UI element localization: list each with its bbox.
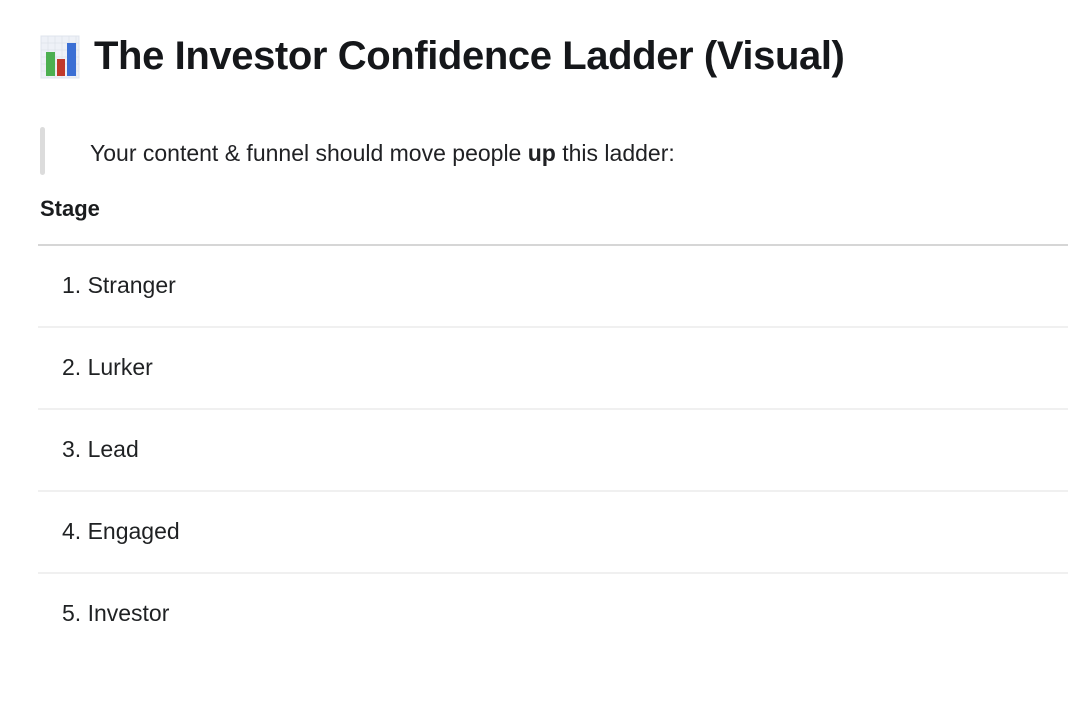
- cell-stage: 5. Investor: [38, 573, 605, 654]
- table-body: 1. Stranger "Who are you?" 2. Lurker "I …: [38, 245, 1068, 654]
- callout-emphasis: up: [528, 140, 556, 166]
- column-header-thinking: What They're Thinking: [605, 196, 1068, 245]
- table-row: 5. Investor "I trust you with my money": [38, 573, 1068, 654]
- cell-thinking: "I trust you with my money": [605, 573, 1068, 654]
- confidence-ladder-table: Stage What They're Thinking 1. Stranger …: [38, 196, 1068, 654]
- cell-thinking: "Who are you?": [605, 245, 1068, 327]
- page-header: The Investor Confidence Ladder (Visual): [0, 0, 1072, 112]
- page-title: The Investor Confidence Ladder (Visual): [94, 36, 844, 76]
- callout-accent-bar: [40, 127, 45, 175]
- table-header-row: Stage What They're Thinking: [38, 196, 1068, 245]
- callout-text: Your content & funnel should move people…: [40, 137, 675, 170]
- callout-blockquote: Your content & funnel should move people…: [0, 112, 1072, 196]
- column-header-stage: Stage: [38, 196, 605, 245]
- cell-thinking: "I downloaded something": [605, 409, 1068, 491]
- table-row: 1. Stranger "Who are you?": [38, 245, 1068, 327]
- cell-thinking: "I see your posts...": [605, 327, 1068, 409]
- callout-text-before: Your content & funnel should move people: [90, 140, 528, 166]
- bar-chart-icon: [40, 35, 80, 79]
- page-root: The Investor Confidence Ladder (Visual) …: [0, 0, 1072, 722]
- cell-stage: 2. Lurker: [38, 327, 605, 409]
- callout-text-after: this ladder:: [556, 140, 675, 166]
- cell-thinking: "I’ve read your emails": [605, 491, 1068, 573]
- cell-stage: 3. Lead: [38, 409, 605, 491]
- table-row: 3. Lead "I downloaded something": [38, 409, 1068, 491]
- cell-stage: 4. Engaged: [38, 491, 605, 573]
- table-row: 4. Engaged "I’ve read your emails": [38, 491, 1068, 573]
- cell-stage: 1. Stranger: [38, 245, 605, 327]
- table-row: 2. Lurker "I see your posts...": [38, 327, 1068, 409]
